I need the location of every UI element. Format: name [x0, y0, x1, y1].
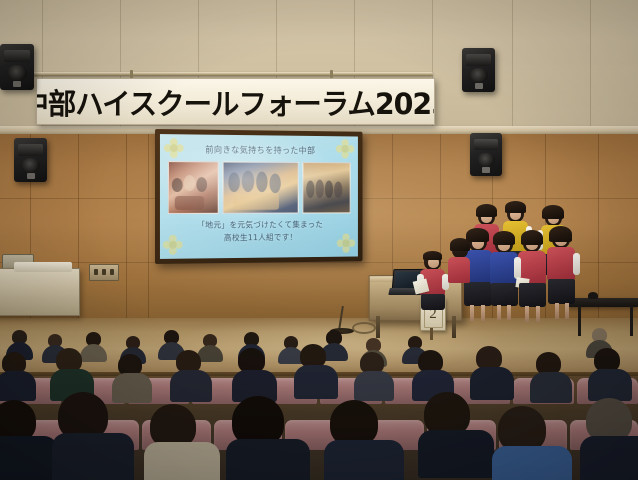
auditorium-seat — [128, 378, 189, 404]
auditorium-seat — [320, 378, 381, 404]
wall-outlet-panel — [89, 264, 119, 281]
slide-photo-3 — [302, 162, 350, 213]
slide-photo-2 — [223, 161, 299, 213]
auditorium-seat — [285, 420, 353, 450]
banner-title-text: 中部ハイスクールフォーラム2025 — [36, 81, 435, 123]
auditorium-seat — [64, 378, 125, 404]
auditorium-seat — [356, 420, 424, 450]
auditorium-seat — [0, 420, 68, 450]
auditorium-seat — [385, 378, 446, 404]
slide-body-line-1: 「地元」を元気づけたくて集まった — [160, 219, 358, 231]
side-table — [0, 268, 80, 316]
auditorium-seat — [513, 378, 574, 404]
auditorium-seat — [214, 420, 282, 450]
table-object — [588, 292, 598, 299]
auditorium-photo: 中部ハイスクールフォーラム2025 — [0, 0, 638, 480]
mic-stand-base — [330, 328, 354, 334]
speaker-left-lower — [14, 138, 47, 182]
slide-photo-1 — [168, 161, 219, 214]
speaker-right-upper — [462, 48, 495, 92]
auditorium-seat — [499, 420, 567, 450]
auditorium-seat — [142, 420, 210, 450]
auditorium-seat — [449, 378, 510, 404]
table-papers — [14, 262, 72, 272]
auditorium-seat — [192, 378, 253, 404]
seat-row-lower — [0, 420, 638, 450]
speaker-right-lower — [470, 133, 502, 176]
auditorium-seat — [0, 378, 61, 404]
projection-screen: 前向きな気持ちを持った中部 — [155, 129, 362, 264]
seat-row-mid — [0, 378, 638, 404]
auditorium-seat — [570, 420, 638, 450]
slide-body-line-2: 高校生11人組です！ — [160, 232, 358, 244]
auditorium-seat — [71, 420, 139, 450]
auditorium-seat — [256, 378, 317, 404]
auditorium-seat — [427, 420, 495, 450]
projected-slide: 前向きな気持ちを持った中部 — [160, 134, 358, 259]
placard-stand — [430, 328, 433, 340]
speaker-left-upper — [0, 44, 34, 90]
banner-hanging-rod — [33, 72, 433, 76]
auditorium-seat — [577, 378, 638, 404]
slide-photo-strip — [168, 161, 351, 214]
event-banner: 中部ハイスクールフォーラム2025 — [36, 78, 435, 125]
floor-cable-ring — [352, 322, 376, 334]
slide-title: 前向きな気持ちを持った中部 — [160, 143, 358, 157]
